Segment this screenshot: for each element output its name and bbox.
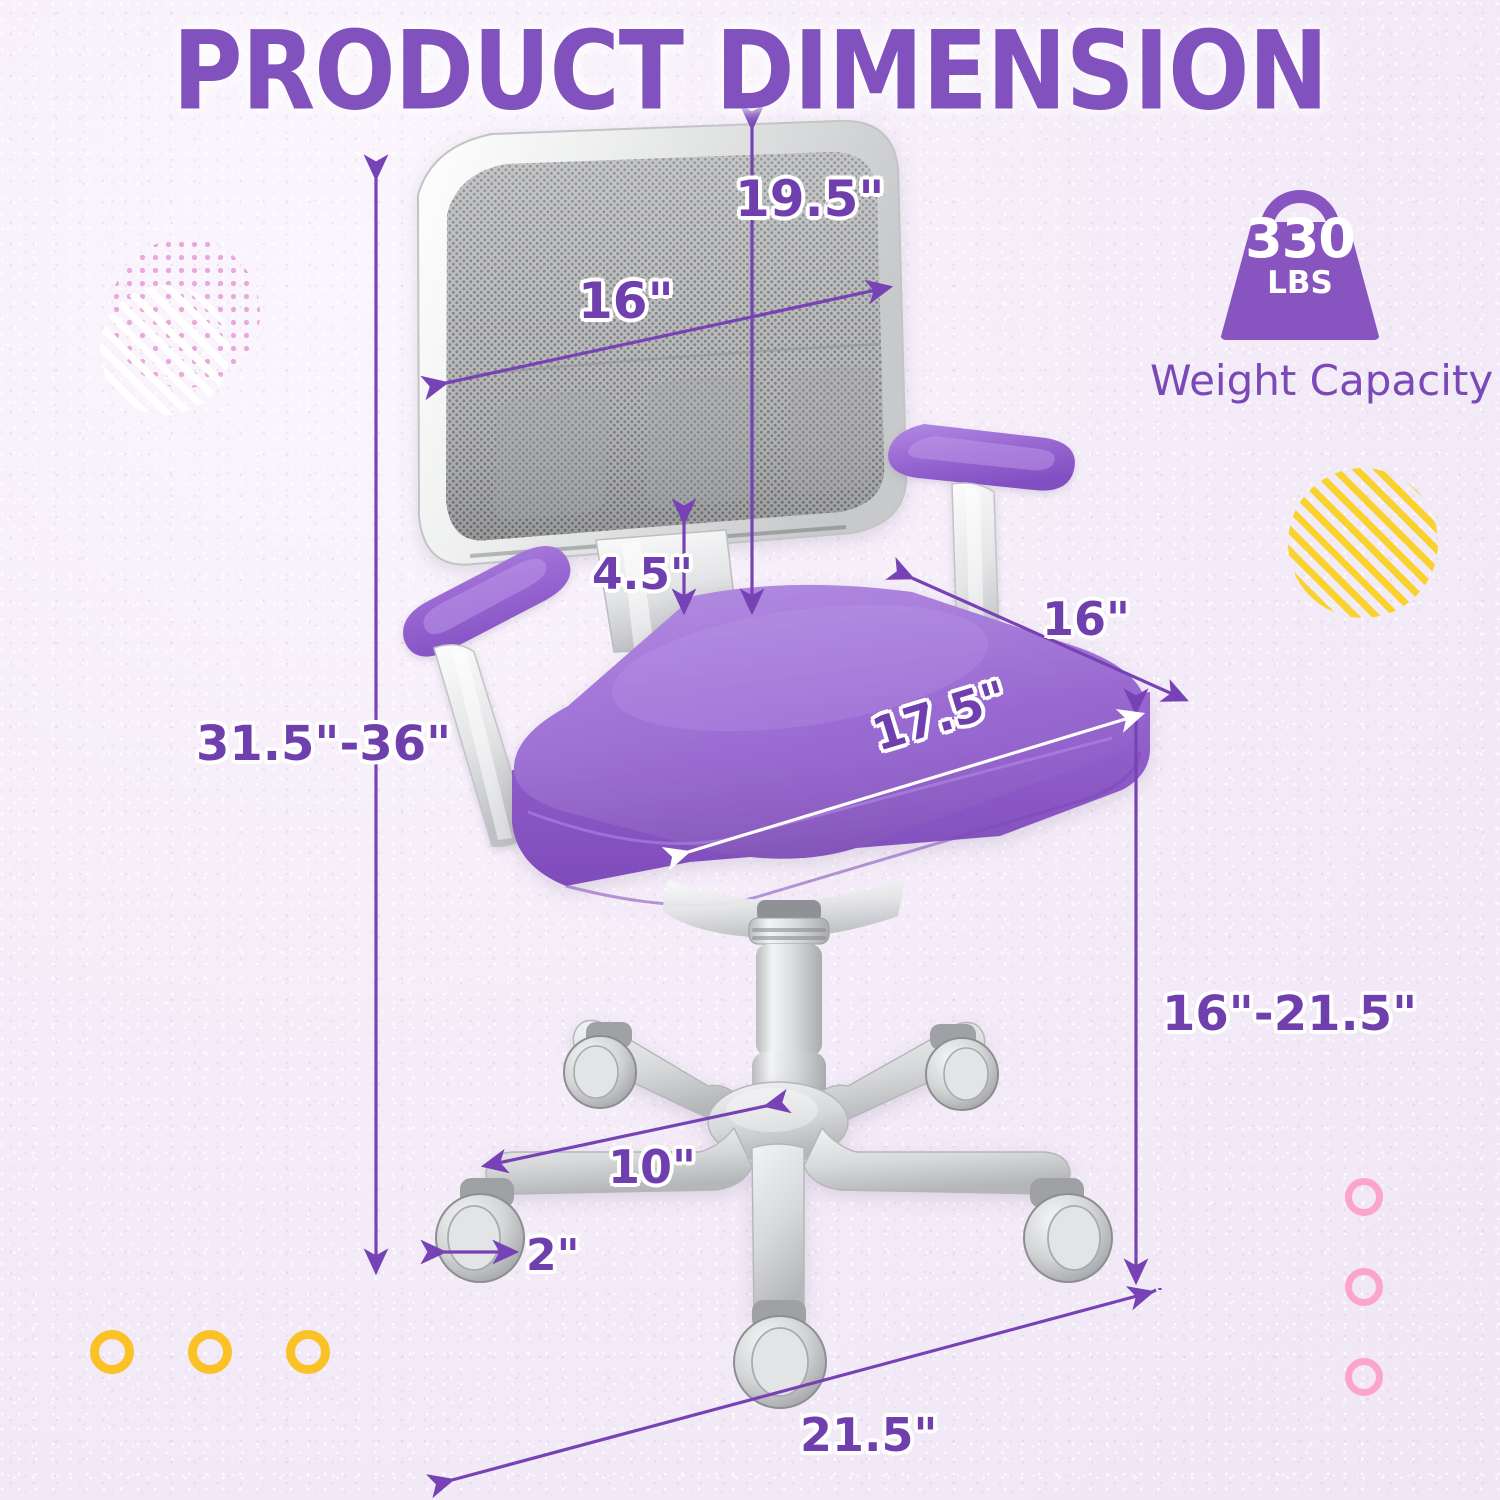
- dimension-label-seat-depth: 16": [1042, 592, 1130, 646]
- dimension-label-caster-size: 2": [526, 1230, 580, 1281]
- dimension-label-backrest-height: 19.5": [735, 170, 884, 228]
- dimension-label-back-gap: 4.5": [592, 549, 693, 600]
- dimension-label-backrest-width: 16": [578, 272, 674, 330]
- weight-capacity-badge: 330 LBS Weight Capacity: [1150, 190, 1450, 405]
- caster: [1024, 1178, 1112, 1282]
- weight-capacity-unit: LBS: [1220, 268, 1380, 299]
- dimension-label-base-width: 21.5": [800, 1408, 937, 1462]
- infographic-canvas: PRODUCT DIMENSION 330 LBS Weight Capacit…: [0, 0, 1500, 1500]
- weight-icon: 330 LBS: [1220, 190, 1380, 340]
- dimension-label-seat-height: 16"-21.5": [1162, 986, 1417, 1042]
- caster: [436, 1178, 524, 1282]
- caster: [926, 1024, 998, 1110]
- dimline-base-width-extension: [1152, 1290, 1156, 1292]
- dimension-label-base-radius: 10": [608, 1140, 696, 1194]
- weight-capacity-value: 330: [1220, 212, 1380, 266]
- dimension-label-overall-height: 31.5"-36": [196, 716, 451, 772]
- page-title: PRODUCT DIMENSION: [0, 8, 1500, 134]
- weight-capacity-caption: Weight Capacity: [1150, 356, 1450, 405]
